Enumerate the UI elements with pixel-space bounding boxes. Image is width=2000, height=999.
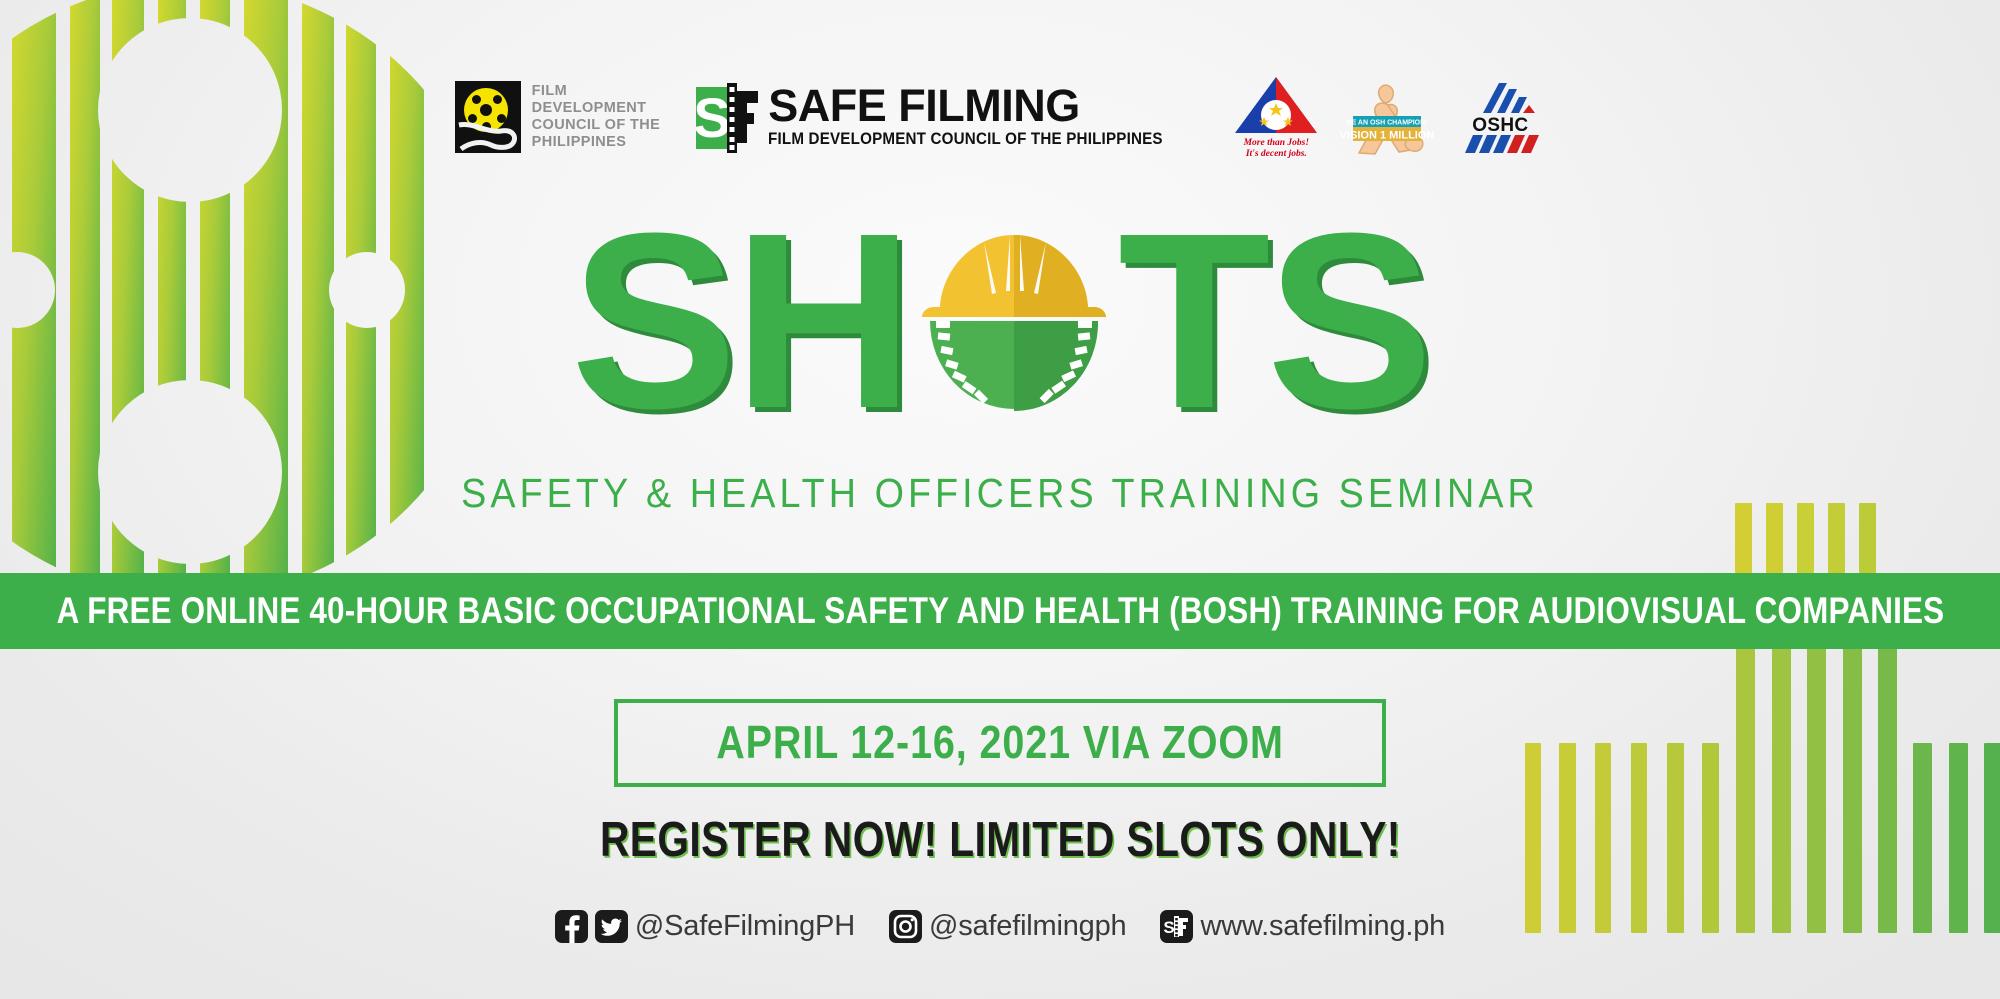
date-box: APRIL 12-16, 2021 VIA ZOOM: [614, 699, 1386, 787]
fdcp-line-2: DEVELOPMENT: [532, 100, 661, 117]
green-headline-band: A FREE ONLINE 40-HOUR BASIC OCCUPATIONAL…: [0, 573, 2000, 649]
social-handle-instagram[interactable]: @safefilmingph: [929, 910, 1127, 943]
promotional-banner: FILM DEVELOPMENT COUNCIL OF THE PHILIPPI…: [0, 0, 2000, 999]
safe-filming-title: SAFE FILMING: [768, 85, 1197, 128]
film-reel-icon: [455, 81, 521, 153]
fdcp-logo: FILM DEVELOPMENT COUNCIL OF THE PHILIPPI…: [455, 81, 661, 153]
social-group-instagram: @safefilmingph: [889, 910, 1127, 943]
right-bars-lower: [1500, 648, 2000, 933]
date-text: APRIL 12-16, 2021 VIA ZOOM: [716, 715, 1284, 769]
register-cta-text: REGISTER NOW! LIMITED SLOTS ONLY!: [600, 812, 1401, 868]
headline-text: A FREE ONLINE 40-HOUR BASIC OCCUPATIONAL…: [56, 590, 1944, 632]
safe-filming-icon[interactable]: S: [1160, 910, 1193, 943]
register-cta: REGISTER NOW! LIMITED SLOTS ONLY!: [0, 812, 2000, 868]
safe-filming-logo: S SAFE FILMI: [696, 81, 1197, 153]
shots-letter-t: T: [1118, 196, 1267, 446]
safe-filming-subtitle: FILM DEVELOPMENT COUNCIL OF THE PHILIPPI…: [768, 130, 1163, 149]
svg-text:S: S: [696, 86, 731, 149]
shots-letter-h: H: [733, 196, 910, 446]
dole-tagline: More than Jobs! It's decent jobs.: [1233, 138, 1319, 161]
oshc-logo: OSHC: [1455, 75, 1545, 159]
svg-text:S: S: [1164, 918, 1175, 937]
fdcp-logo-text: FILM DEVELOPMENT COUNCIL OF THE PHILIPPI…: [532, 83, 661, 151]
film-strip-icon: [457, 121, 519, 151]
svg-text:BE AN OSH CHAMPION!: BE AN OSH CHAMPION!: [1347, 120, 1428, 127]
shots-wordmark: S H: [0, 196, 2000, 446]
fdcp-line-4: PHILIPPINES: [532, 134, 661, 151]
dole-tagline-line2: It's decent jobs.: [1233, 149, 1319, 161]
shots-letter-s2: S: [1267, 196, 1430, 446]
vision-one-million-logo: BE AN OSH CHAMPION! VISION 1 MILLION: [1339, 75, 1435, 159]
social-group-website: S www.safefilming.ph: [1160, 910, 1445, 943]
partner-logo-row: FILM DEVELOPMENT COUNCIL OF THE PHILIPPI…: [0, 62, 2000, 172]
social-handle-website[interactable]: www.safefilming.ph: [1200, 910, 1445, 943]
svg-text:VISION 1 MILLION: VISION 1 MILLION: [1340, 130, 1435, 142]
social-handle-facebook-twitter[interactable]: @SafeFilmingPH: [635, 910, 855, 943]
dole-tagline-line1: More than Jobs!: [1233, 138, 1319, 150]
shots-letter-s1: S: [571, 196, 734, 446]
dole-logo: More than Jobs! It's decent jobs.: [1233, 75, 1319, 159]
social-group-facebook-twitter: @SafeFilmingPH: [555, 910, 855, 943]
hero-tagline: SAFETY & HEALTH OFFICERS TRAINING SEMINA…: [80, 470, 1920, 517]
oshc-acronym: OSHC: [1455, 115, 1545, 137]
instagram-icon[interactable]: [889, 910, 922, 943]
fdcp-line-3: COUNCIL OF THE: [532, 117, 661, 134]
social-footer: @SafeFilmingPH @safefilmingph S: [0, 896, 2000, 956]
fdcp-line-1: FILM: [532, 83, 661, 100]
facebook-icon[interactable]: [555, 910, 588, 943]
hard-hat-film-reel-icon: [916, 221, 1112, 421]
twitter-icon[interactable]: [595, 910, 628, 943]
sf-monogram-icon: S: [696, 81, 758, 153]
